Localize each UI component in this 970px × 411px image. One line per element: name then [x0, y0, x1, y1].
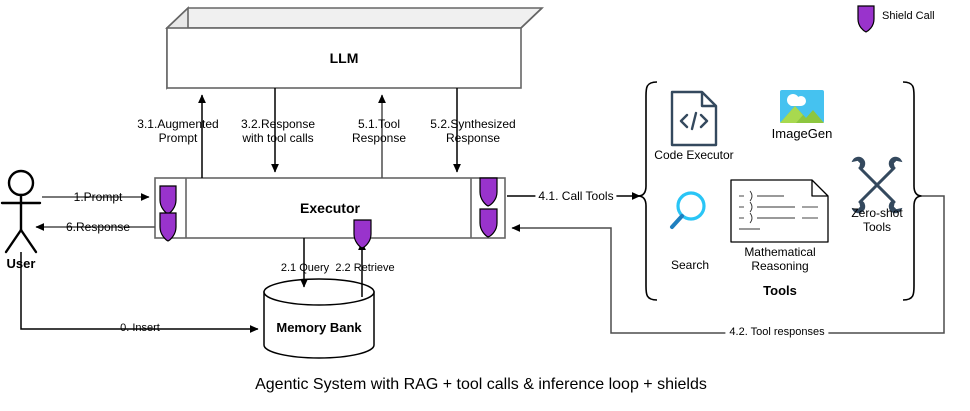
legend-shield-label: Shield Call	[882, 10, 935, 23]
tools-right-bracket	[903, 82, 922, 300]
edge-label-augmented-prompt-line2: Prompt	[137, 131, 218, 145]
llm-node	[167, 8, 542, 88]
edge-label-synthesized-response: 5.2.Synthesized Response	[430, 117, 515, 145]
edge-label-retrieve: 2.2 Retrieve	[335, 262, 394, 275]
edge-label-augmented-prompt-line1: 3.1.Augmented	[137, 117, 218, 131]
tool-label-mathematical-reasoning: Mathematical Reasoning	[744, 245, 815, 273]
tool-label-mathematical-reasoning-line1: Mathematical	[744, 245, 815, 259]
edge-label-tool-responses: 4.2. Tool responses	[725, 326, 828, 339]
edge-label-response-tool-calls-line1: 3.2.Response	[241, 117, 315, 131]
edge-label-prompt: 1.Prompt	[74, 190, 123, 204]
tool-label-zero-shot-tools: Zero-shot Tools	[851, 206, 902, 234]
tool-label-zero-shot-tools-line2: Tools	[851, 220, 902, 234]
edge-label-synthesized-response-line2: Response	[430, 131, 515, 145]
memory-bank-label: Memory Bank	[276, 320, 361, 335]
user-label: User	[7, 256, 36, 271]
user-actor-icon	[2, 171, 40, 252]
edge-label-response-tool-calls-line2: with tool calls	[241, 131, 315, 145]
formula-document-icon	[731, 180, 828, 242]
edge-label-response: 6.Response	[66, 220, 130, 234]
code-document-icon	[672, 92, 716, 145]
magnifier-icon	[672, 193, 704, 227]
tool-label-mathematical-reasoning-line2: Reasoning	[744, 259, 815, 273]
tool-label-imagegen: ImageGen	[772, 126, 833, 141]
edge-label-augmented-prompt: 3.1.Augmented Prompt	[137, 117, 218, 145]
executor-label: Executor	[300, 200, 360, 217]
diagram-vector-layer	[0, 0, 970, 411]
edge-label-tool-response-line1: 5.1.Tool	[352, 117, 406, 131]
edge-label-query: 2.1 Query	[281, 262, 329, 275]
crossed-wrenches-icon	[853, 158, 901, 213]
edge-label-insert: 0. Insert	[120, 322, 160, 335]
image-icon	[780, 90, 824, 123]
tools-left-bracket	[638, 82, 657, 300]
shield-icon-executor-memory	[354, 220, 371, 248]
tool-label-code-executor: Code Executor	[654, 148, 733, 162]
diagram-canvas: LLM Executor Memory Bank User 1.Prompt 6…	[0, 0, 970, 411]
edge-label-call-tools: 4.1. Call Tools	[535, 189, 616, 203]
tool-label-zero-shot-tools-line1: Zero-shot	[851, 206, 902, 220]
diagram-caption: Agentic System with RAG + tool calls & i…	[255, 376, 707, 395]
edge-insert	[21, 252, 258, 329]
tool-label-search: Search	[671, 258, 709, 272]
edge-label-synthesized-response-line1: 5.2.Synthesized	[430, 117, 515, 131]
edge-label-response-tool-calls: 3.2.Response with tool calls	[241, 117, 315, 145]
edge-label-tool-response: 5.1.Tool Response	[352, 117, 406, 145]
llm-label: LLM	[330, 50, 359, 67]
edge-label-tool-response-line2: Response	[352, 131, 406, 145]
shield-icon-legend	[858, 6, 874, 32]
memory-bank-node	[264, 279, 374, 358]
tools-group-label: Tools	[763, 283, 797, 298]
